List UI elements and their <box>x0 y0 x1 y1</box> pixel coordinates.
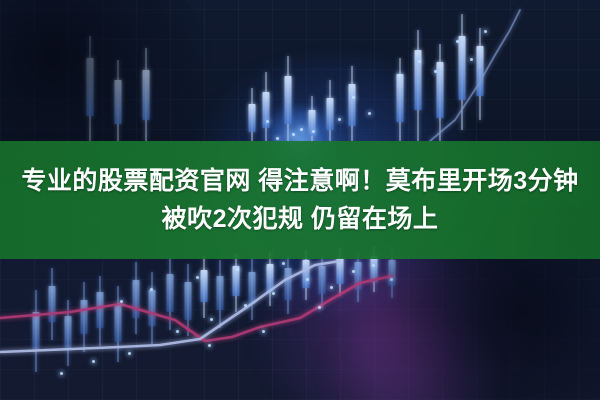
spark-dot <box>368 112 371 115</box>
spark-dot <box>150 288 153 291</box>
spark-dot <box>272 292 275 295</box>
headline-line-1: 专业的股票配资官网 得注意啊！莫布里开场3分钟 <box>17 162 582 200</box>
spark-dot <box>266 120 269 123</box>
spark-dot <box>398 74 401 77</box>
spark-dot <box>244 304 247 307</box>
spark-dot <box>210 318 213 321</box>
spark-dot <box>262 330 265 333</box>
headline-line-2: 被吹2次犯规 仍留在场上 <box>162 200 439 238</box>
spark-dot <box>434 70 437 73</box>
spark-dot <box>236 268 239 271</box>
spark-dot <box>300 128 303 131</box>
headline-banner: 专业的股票配资官网 得注意啊！莫布里开场3分钟 被吹2次犯规 仍留在场上 <box>0 141 600 259</box>
spark-dot <box>196 276 199 279</box>
spark-dot <box>418 60 421 63</box>
banner-image: 专业的股票配资官网 得注意啊！莫布里开场3分钟 被吹2次犯规 仍留在场上 <box>0 0 600 400</box>
spark-dot <box>120 300 123 303</box>
spark-dot <box>92 360 95 363</box>
spark-dot <box>60 372 63 375</box>
spark-dot <box>352 270 355 273</box>
spark-dot <box>282 262 285 265</box>
spark-dot <box>276 137 279 140</box>
spark-dot <box>352 96 355 99</box>
spark-dot <box>372 264 375 267</box>
spark-dot <box>470 58 473 61</box>
spark-dot <box>390 278 393 281</box>
spark-dot <box>128 352 131 355</box>
spark-dot <box>208 344 211 347</box>
spark-dot <box>312 130 315 133</box>
spark-dot <box>484 30 487 33</box>
spark-dot <box>330 286 333 289</box>
spark-dot <box>306 278 309 281</box>
spark-dot <box>338 118 341 121</box>
spark-dot <box>292 133 295 136</box>
spark-dot <box>318 306 321 309</box>
spark-dot <box>456 40 459 43</box>
spark-dot <box>176 330 179 333</box>
